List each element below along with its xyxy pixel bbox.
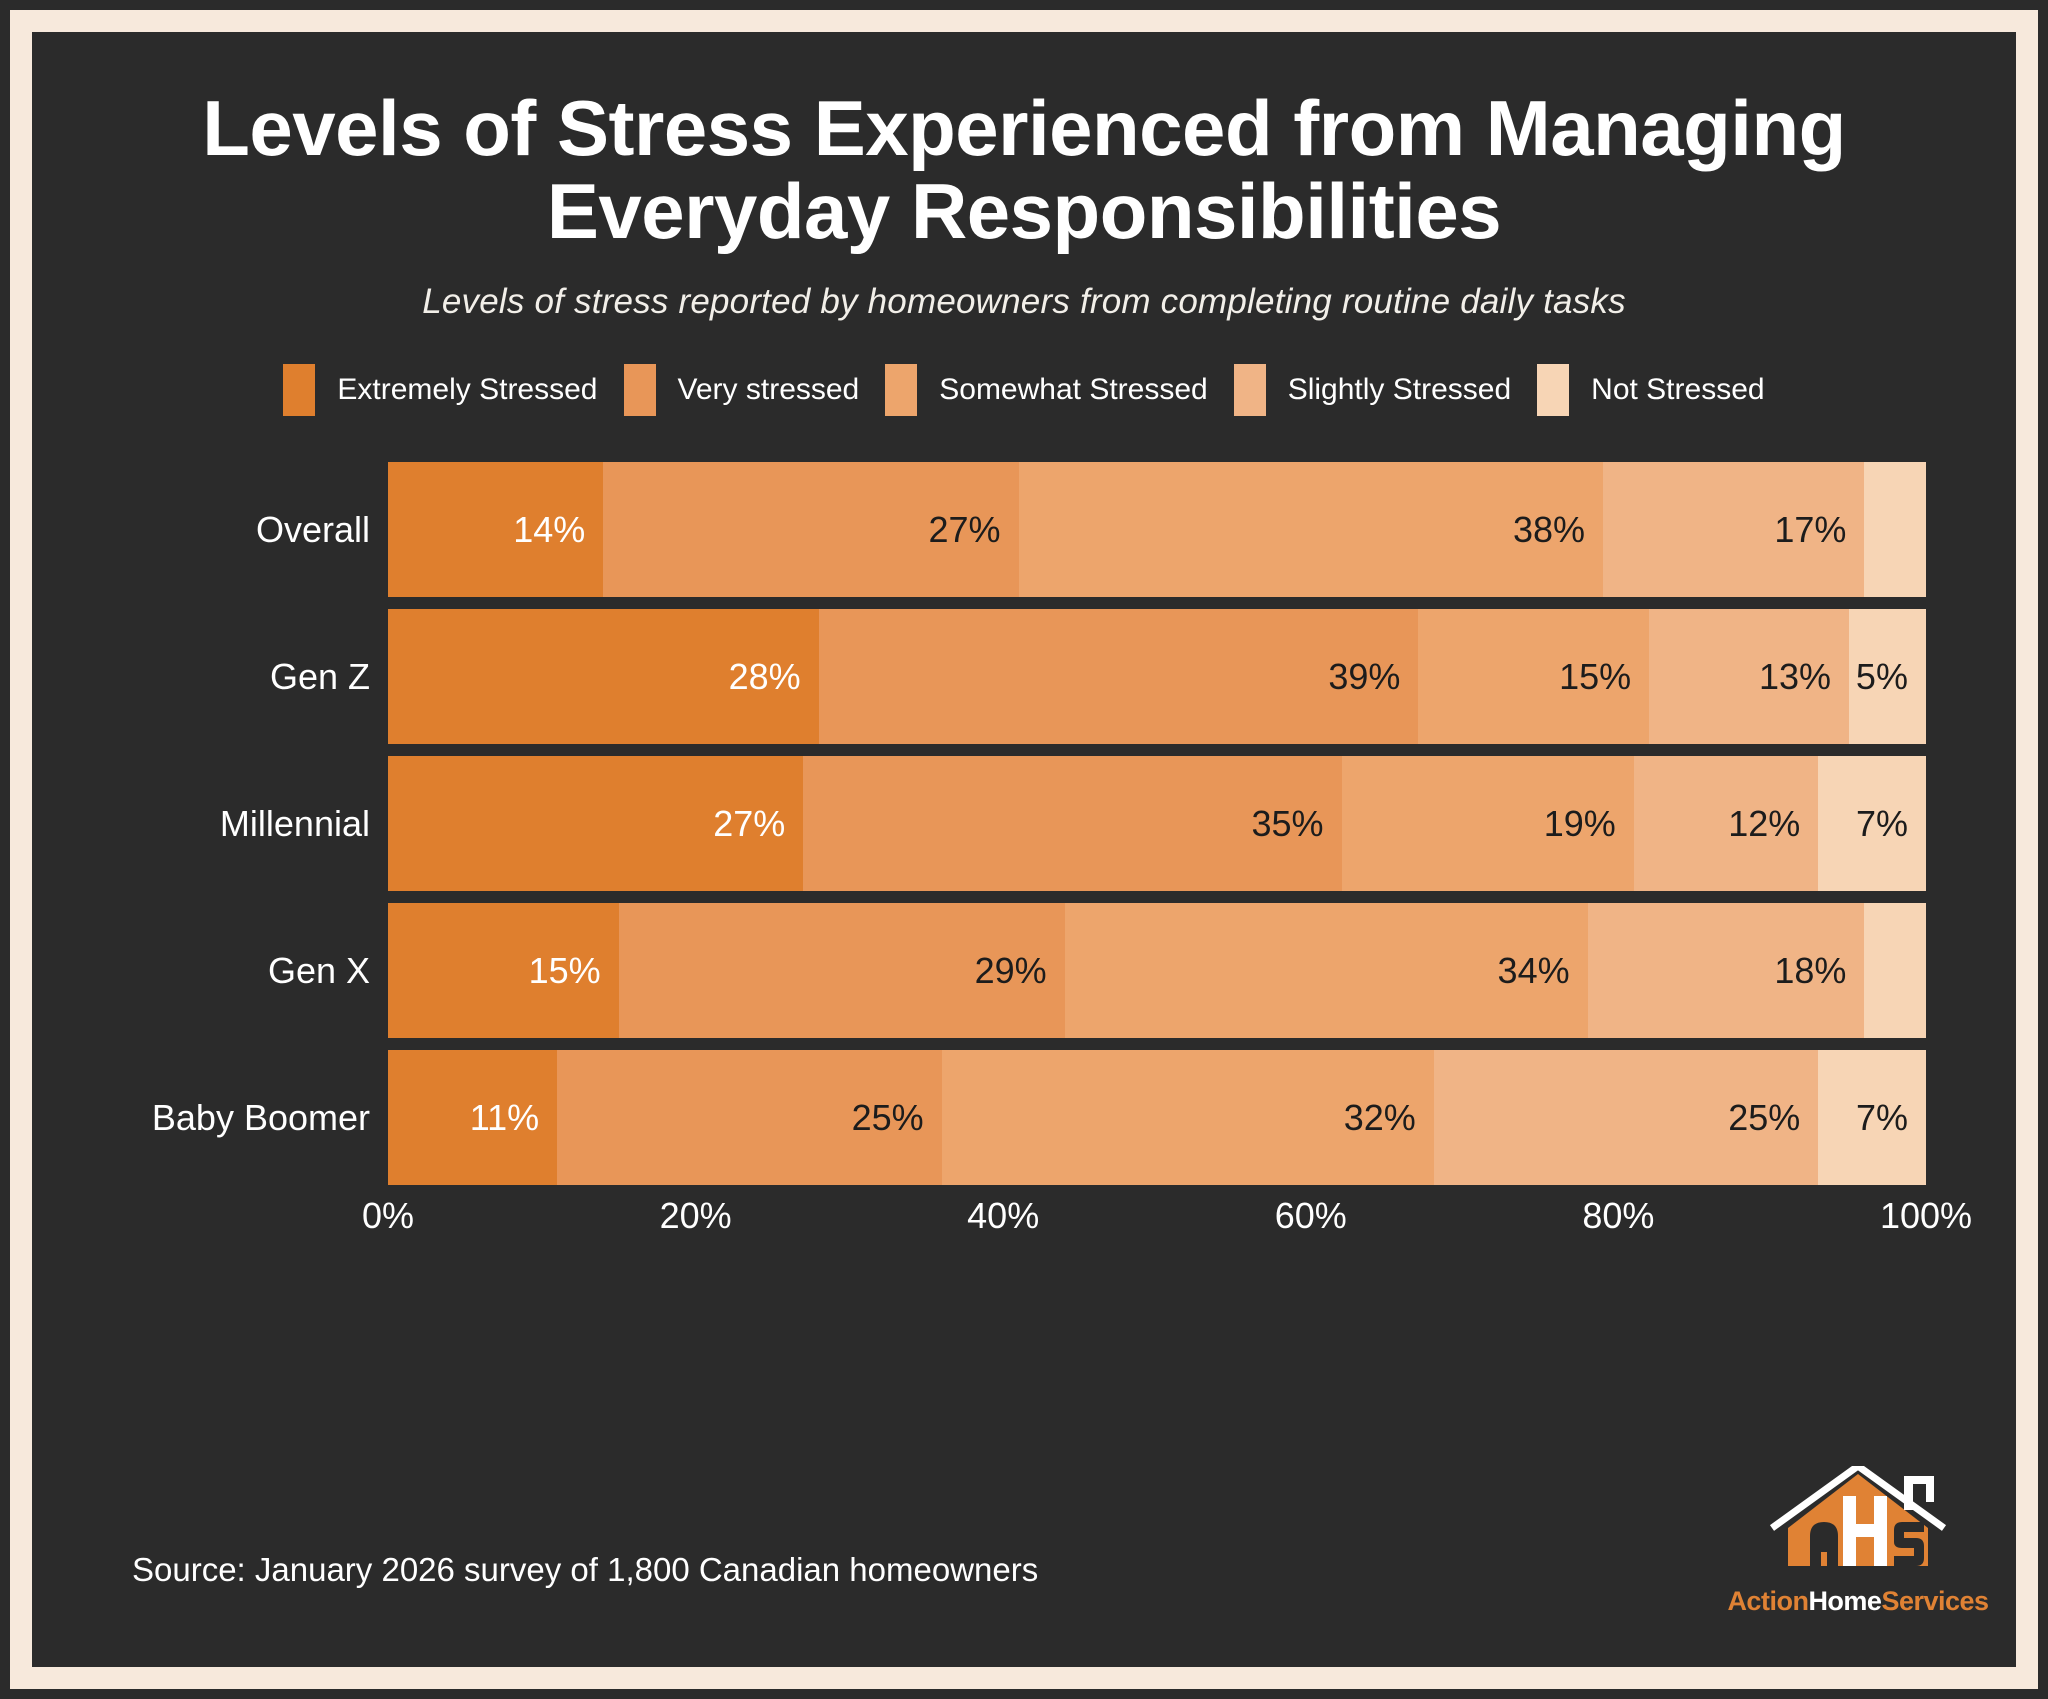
x-axis: 0%20%40%60%80%100%	[122, 1185, 1926, 1247]
bar-segment[interactable]: 11%	[388, 1050, 557, 1185]
legend-swatch-icon	[624, 364, 656, 416]
x-axis-ticks: 0%20%40%60%80%100%	[388, 1185, 1926, 1247]
bar-segment[interactable]: 27%	[603, 462, 1018, 597]
chart-row: Overall14%27%38%17%	[122, 462, 1926, 597]
legend-swatch-icon	[283, 364, 315, 416]
stacked-bar: 14%27%38%17%	[388, 462, 1926, 597]
bar-segment[interactable]: 7%	[1818, 1050, 1926, 1185]
axis-spacer	[122, 1185, 388, 1247]
bar-segment[interactable]: 29%	[619, 903, 1065, 1038]
legend-item[interactable]: Slightly Stressed	[1234, 364, 1511, 416]
axis-tick-label: 60%	[1275, 1195, 1347, 1237]
bar-segment[interactable]: 15%	[388, 903, 619, 1038]
bar-segment[interactable]: 28%	[388, 609, 819, 744]
category-label: Millennial	[122, 756, 388, 891]
chart-canvas: Levels of Stress Experienced from Managi…	[32, 32, 2016, 1667]
cream-border: Levels of Stress Experienced from Managi…	[10, 10, 2038, 1689]
axis-tick-label: 40%	[967, 1195, 1039, 1237]
chart-row: Gen Z28%39%15%13%5%	[122, 609, 1926, 744]
bar-segment[interactable]: 13%	[1649, 609, 1849, 744]
bar-segment[interactable]: 7%	[1818, 756, 1926, 891]
page-subtitle: Levels of stress reported by homeowners …	[32, 252, 2016, 322]
legend-swatch-icon	[885, 364, 917, 416]
bar-segment[interactable]: 14%	[388, 462, 603, 597]
chart-row: Gen X15%29%34%18%	[122, 903, 1926, 1038]
logo-wordmark: ActionHomeServices	[1748, 1586, 1968, 1617]
chart-row: Baby Boomer11%25%32%25%7%	[122, 1050, 1926, 1185]
legend-label: Not Stressed	[1591, 373, 1764, 407]
bar-segment[interactable]	[1864, 903, 1926, 1038]
category-label: Overall	[122, 462, 388, 597]
chart-row: Millennial27%35%19%12%7%	[122, 756, 1926, 891]
category-label: Baby Boomer	[122, 1050, 388, 1185]
legend-label: Slightly Stressed	[1288, 373, 1511, 407]
stacked-bar-chart: Overall14%27%38%17%Gen Z28%39%15%13%5%Mi…	[122, 462, 1926, 1185]
source-note: Source: January 2026 survey of 1,800 Can…	[132, 1551, 1038, 1589]
bar-segment[interactable]: 18%	[1588, 903, 1865, 1038]
bar-segment[interactable]: 27%	[388, 756, 803, 891]
logo-word-action: Action	[1727, 1586, 1808, 1617]
axis-tick-label: 100%	[1880, 1195, 1972, 1237]
poster-frame: Levels of Stress Experienced from Managi…	[0, 0, 2048, 1699]
legend-item[interactable]: Very stressed	[624, 364, 860, 416]
legend-item[interactable]: Not Stressed	[1537, 364, 1764, 416]
category-label: Gen Z	[122, 609, 388, 744]
bar-segment[interactable]: 35%	[803, 756, 1341, 891]
chart-legend: Extremely StressedVery stressedSomewhat …	[32, 322, 2016, 416]
legend-item[interactable]: Extremely Stressed	[283, 364, 597, 416]
legend-label: Very stressed	[678, 373, 860, 407]
legend-item[interactable]: Somewhat Stressed	[885, 364, 1207, 416]
stacked-bar: 27%35%19%12%7%	[388, 756, 1926, 891]
stacked-bar: 28%39%15%13%5%	[388, 609, 1926, 744]
axis-tick-label: 20%	[660, 1195, 732, 1237]
bar-segment[interactable]: 25%	[557, 1050, 942, 1185]
bar-segment[interactable]: 39%	[819, 609, 1419, 744]
bar-segment[interactable]: 34%	[1065, 903, 1588, 1038]
logo-word-services: Services	[1881, 1586, 1988, 1617]
page-title: Levels of Stress Experienced from Managi…	[32, 32, 2016, 252]
footer: Source: January 2026 survey of 1,800 Can…	[32, 1437, 2016, 1667]
legend-swatch-icon	[1234, 364, 1266, 416]
bar-segment[interactable]	[1864, 462, 1926, 597]
bar-segment[interactable]: 38%	[1019, 462, 1603, 597]
bar-segment[interactable]: 25%	[1434, 1050, 1819, 1185]
legend-swatch-icon	[1537, 364, 1569, 416]
stacked-bar: 15%29%34%18%	[388, 903, 1926, 1038]
category-label: Gen X	[122, 903, 388, 1038]
legend-label: Extremely Stressed	[337, 373, 597, 407]
logo-word-home: Home	[1808, 1586, 1881, 1617]
axis-tick-label: 80%	[1582, 1195, 1654, 1237]
bar-segment[interactable]: 15%	[1418, 609, 1649, 744]
stacked-bar: 11%25%32%25%7%	[388, 1050, 1926, 1185]
bar-segment[interactable]: 17%	[1603, 462, 1864, 597]
bar-segment[interactable]: 32%	[942, 1050, 1434, 1185]
axis-tick-label: 0%	[362, 1195, 414, 1237]
bar-segment[interactable]: 5%	[1849, 609, 1926, 744]
ahs-house-logo-icon	[1748, 1466, 1968, 1584]
legend-label: Somewhat Stressed	[939, 373, 1207, 407]
bar-segment[interactable]: 12%	[1634, 756, 1819, 891]
bar-segment[interactable]: 19%	[1342, 756, 1634, 891]
action-home-services-logo: ActionHomeServices	[1748, 1466, 1968, 1631]
